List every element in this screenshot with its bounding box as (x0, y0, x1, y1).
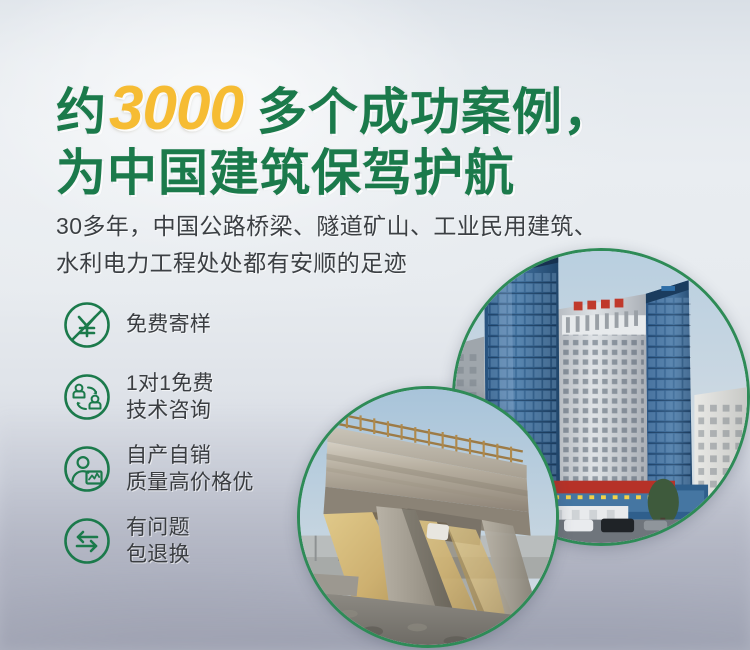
feature-line: 包退换 (126, 541, 190, 568)
feature-label-self-produced: 自产自销 质量高价格优 (126, 442, 254, 497)
headline-number: 3000 (107, 74, 247, 143)
feature-label-free-sample: 免费寄样 (126, 311, 211, 338)
bridge-viaduct-photo (297, 386, 559, 648)
feature-line: 技术咨询 (126, 397, 214, 424)
feature-line: 免费寄样 (126, 311, 211, 338)
exchange-return-icon (62, 516, 112, 566)
subtitle-line-2: 水利电力工程处处都有安顺的足迹 (56, 245, 597, 282)
feature-label-consulting: 1对1免费 技术咨询 (126, 370, 214, 425)
headline-suffix: 多个成功案例， (257, 84, 614, 140)
feature-line: 质量高价格优 (126, 469, 254, 496)
feature-label-return-exchange: 有问题 包退换 (126, 514, 190, 569)
page-title: 约3000多个成功案例， 为中国建筑保驾护航 (56, 78, 614, 198)
feature-list: 免费寄样 1对1免费 (62, 296, 254, 584)
feature-item-self-produced: 自产自销 质量高价格优 (62, 440, 254, 498)
headline-line2: 为中国建筑保驾护航 (56, 145, 515, 201)
subtitle-line-1: 30多年，中国公路桥梁、隧道矿山、工业民用建筑、 (56, 208, 597, 245)
feature-item-consulting: 1对1免费 技术咨询 (62, 368, 254, 426)
feature-line: 有问题 (126, 514, 190, 541)
feature-line: 1对1免费 (126, 370, 214, 397)
headline-prefix: 约 (56, 84, 107, 140)
feature-item-return-exchange: 有问题 包退换 (62, 512, 254, 570)
one-to-one-consult-icon (62, 372, 112, 422)
subtitle: 30多年，中国公路桥梁、隧道矿山、工业民用建筑、 水利电力工程处处都有安顺的足迹 (56, 208, 597, 283)
promo-banner: 约3000多个成功案例， 为中国建筑保驾护航 30多年，中国公路桥梁、隧道矿山、… (0, 0, 750, 650)
feature-line: 自产自销 (126, 442, 254, 469)
no-fee-yen-icon (62, 300, 112, 350)
self-produced-chart-person-icon (62, 444, 112, 494)
feature-item-free-sample: 免费寄样 (62, 296, 254, 354)
